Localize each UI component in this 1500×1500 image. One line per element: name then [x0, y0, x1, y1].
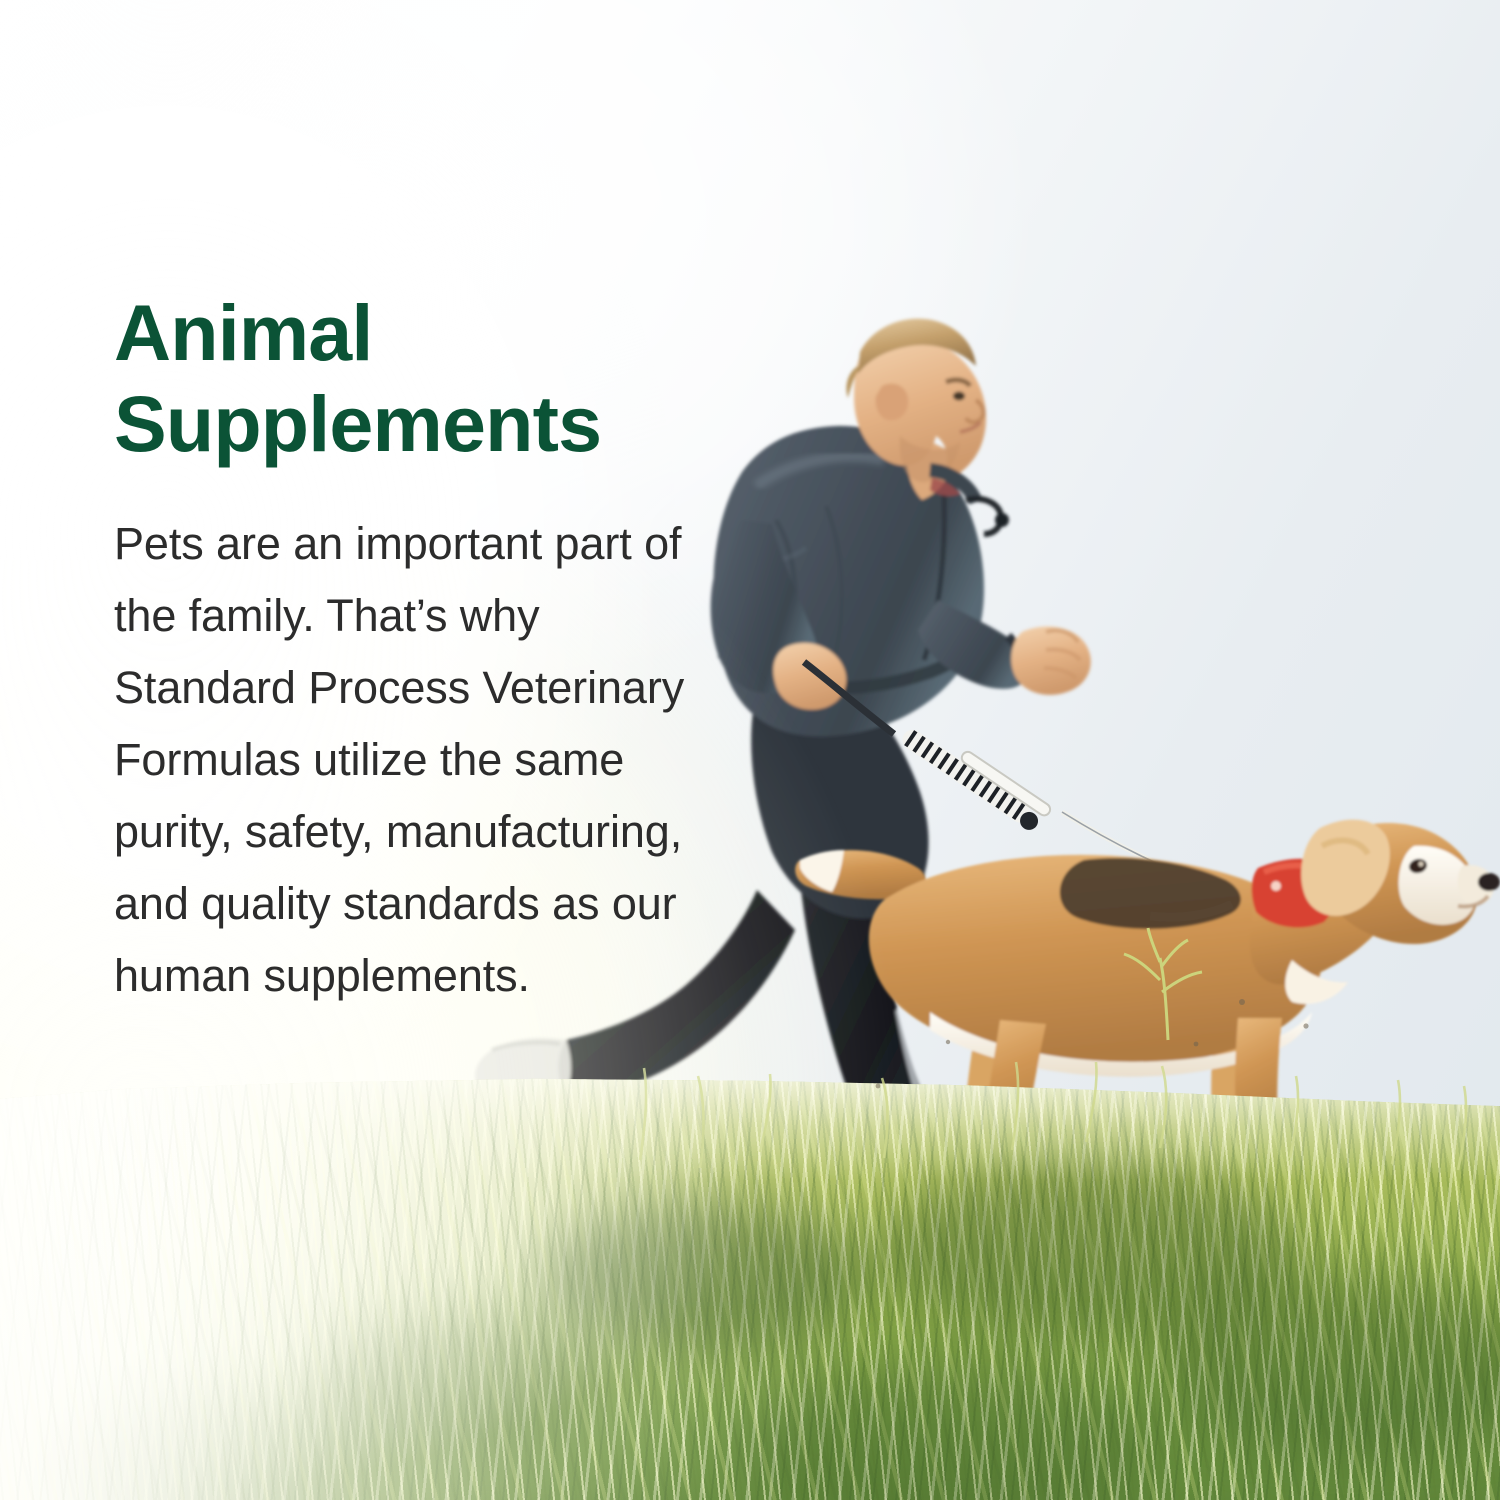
copy-block: Animal Supplements Pets are an important… — [114, 288, 714, 1012]
grass-shadow — [540, 1200, 870, 1350]
page-title: Animal Supplements — [114, 288, 714, 470]
promo-banner: Animal Supplements Pets are an important… — [0, 0, 1500, 1500]
grass-field — [0, 1060, 1500, 1500]
body-paragraph: Pets are an important part of the family… — [114, 508, 714, 1012]
